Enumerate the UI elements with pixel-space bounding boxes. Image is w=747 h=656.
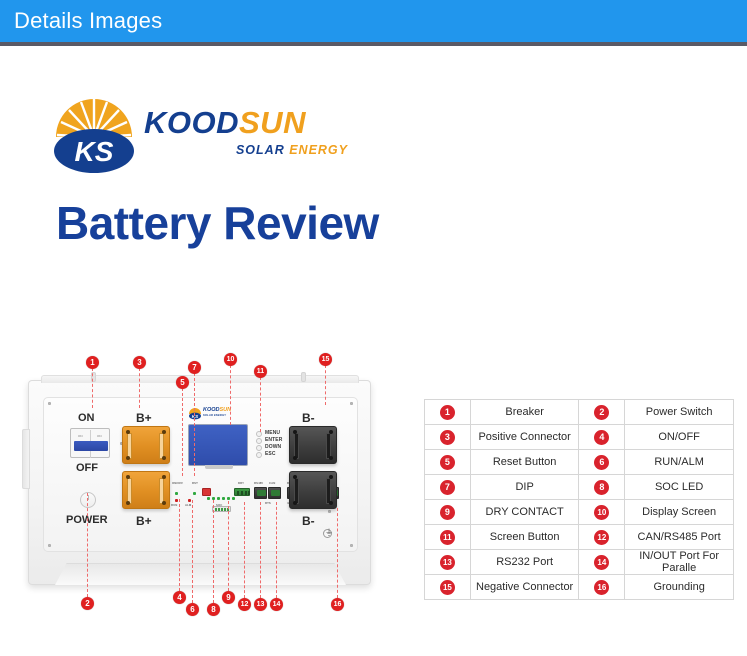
leader-line-9 xyxy=(228,501,229,591)
legend-number-cell: 15 xyxy=(425,575,471,600)
connector-bolt xyxy=(126,456,130,460)
svg-text:KS: KS xyxy=(192,414,199,419)
label-run-micro: RUN xyxy=(171,503,177,507)
leader-line-12 xyxy=(244,502,245,598)
soc-led-indicator xyxy=(227,497,230,500)
legend-label-cell: Display Screen xyxy=(625,500,734,525)
callout-marker-7: 7 xyxy=(188,361,201,374)
legend-number-cell: 12 xyxy=(579,525,625,550)
callout-marker-4: 4 xyxy=(173,591,186,604)
legend-label-cell: DIP xyxy=(470,475,579,500)
menu-button-dot-icon xyxy=(256,452,262,458)
label-rs485-micro: RS485 xyxy=(254,481,263,485)
legend-label-cell: Breaker xyxy=(470,400,579,425)
soc-led-indicator xyxy=(207,497,210,500)
brand-name-kood: KOOD xyxy=(144,105,239,140)
faceplate-screw xyxy=(350,544,353,547)
can-port[interactable] xyxy=(268,487,281,499)
grounding-icon xyxy=(323,529,332,538)
label-dry-micro: DRY xyxy=(238,481,244,485)
display-screen-foot xyxy=(205,465,233,469)
connector-bolt xyxy=(293,501,297,505)
legend-number-cell: 14 xyxy=(579,550,625,575)
legend-label-cell: SOC LED xyxy=(625,475,734,500)
connector-bolt xyxy=(293,475,297,479)
legend-badge: 15 xyxy=(440,580,455,595)
device-base-stand xyxy=(55,563,346,585)
page-header-title: Details Images xyxy=(14,8,162,34)
leader-line-6 xyxy=(192,500,193,603)
negative-connector-bottom[interactable] xyxy=(289,471,337,509)
connector-bolt xyxy=(126,475,130,479)
leader-line-4 xyxy=(179,499,180,591)
legend-label-cell: Grounding xyxy=(625,575,734,600)
connector-bolt xyxy=(162,475,166,479)
component-legend-table: 1 Breaker 2 Power Switch 3 Positive Conn… xyxy=(424,399,734,600)
legend-number-cell: 1 xyxy=(425,400,471,425)
label-on: ON xyxy=(78,412,95,424)
panel-brand-sub: SOLAR ENERGY xyxy=(203,413,231,419)
label-off: OFF xyxy=(76,462,98,474)
connector-bolt xyxy=(162,430,166,434)
legend-label-cell: RUN/ALM xyxy=(625,450,734,475)
positive-connector-top[interactable] xyxy=(122,426,170,464)
legend-label-cell: Negative Connector xyxy=(470,575,579,600)
legend-number-cell: 7 xyxy=(425,475,471,500)
table-row: 9 DRY CONTACT 10 Display Screen xyxy=(425,500,734,525)
menu-button-label: DOWN xyxy=(265,444,281,450)
reset-button[interactable] xyxy=(202,488,211,496)
callout-marker-9: 9 xyxy=(222,591,235,604)
callout-marker-8: 8 xyxy=(207,603,220,616)
legend-badge: 8 xyxy=(594,480,609,495)
legend-badge: 2 xyxy=(594,405,609,420)
label-can-micro: CAN xyxy=(269,481,275,485)
table-row: 1 Breaker 2 Power Switch xyxy=(425,400,734,425)
connector-bolt xyxy=(329,456,333,460)
page-title: Battery Review xyxy=(56,196,379,250)
soc-led-indicator xyxy=(222,497,225,500)
callout-marker-2: 2 xyxy=(81,597,94,610)
connector-bolt xyxy=(162,456,166,460)
legend-number-cell: 3 xyxy=(425,425,471,450)
callout-marker-5: 5 xyxy=(176,376,189,389)
legend-label-cell: RS232 Port xyxy=(470,550,579,575)
leader-line-13 xyxy=(260,502,261,598)
menu-button-label: ENTER xyxy=(265,437,282,443)
legend-badge: 5 xyxy=(440,455,455,470)
connector-bolt xyxy=(329,430,333,434)
legend-number-cell: 8 xyxy=(579,475,625,500)
leader-line-11 xyxy=(260,377,261,432)
legend-number-cell: 4 xyxy=(579,425,625,450)
table-row: 7 DIP 8 SOC LED xyxy=(425,475,734,500)
soc-led-indicator xyxy=(232,497,235,500)
sun-logo-icon: KS xyxy=(48,85,140,177)
legend-label-cell: ON/OFF xyxy=(625,425,734,450)
faceplate-screw xyxy=(48,544,51,547)
label-rst-micro: RST xyxy=(192,481,198,485)
callout-marker-12: 12 xyxy=(238,598,251,611)
legend-badge: 3 xyxy=(440,430,455,445)
leader-line-15 xyxy=(325,365,326,405)
soc-led-indicator xyxy=(217,497,220,500)
page-root: Details Images KS KOODSUN xyxy=(0,0,747,656)
leader-line-5 xyxy=(182,388,183,476)
legend-badge: 1 xyxy=(440,405,455,420)
onoff-led-indicator xyxy=(175,492,178,495)
legend-number-cell: 6 xyxy=(579,450,625,475)
connector-bolt xyxy=(329,475,333,479)
legend-badge: 6 xyxy=(594,455,609,470)
legend-label-cell: Power Switch xyxy=(625,400,734,425)
legend-label-cell: IN/OUT Port For Paralle xyxy=(625,550,734,575)
power-switch-button[interactable] xyxy=(80,492,96,508)
device-chassis: ON ON ON OFF POWER B+ xyxy=(28,380,371,585)
leader-line-8 xyxy=(213,500,214,603)
callout-marker-10: 10 xyxy=(224,353,237,366)
legend-label-cell: DRY CONTACT xyxy=(470,500,579,525)
legend-badge: 16 xyxy=(594,580,609,595)
brand-name-sun: SUN xyxy=(239,105,306,140)
leader-line-14 xyxy=(276,502,277,598)
run-led-indicator xyxy=(175,499,178,502)
legend-badge: 11 xyxy=(440,530,455,545)
connector-bolt xyxy=(293,456,297,460)
brand-tagline-energy: ENERGY xyxy=(289,143,348,157)
status-led-indicator xyxy=(193,492,196,495)
label-onoff-micro: ON/OFF xyxy=(172,481,183,485)
menu-button-label: MENU xyxy=(265,430,280,436)
leader-line-1 xyxy=(92,368,93,408)
panel-sun-logo-icon: KS xyxy=(188,406,202,420)
breaker-mini-mark: ON xyxy=(97,434,102,438)
legend-number-cell: 16 xyxy=(579,575,625,600)
menu-button-dot-icon xyxy=(256,445,262,451)
negative-connector-top[interactable] xyxy=(289,426,337,464)
legend-badge: 13 xyxy=(440,555,455,570)
callout-marker-6: 6 xyxy=(186,603,199,616)
faceplate-screw xyxy=(328,510,331,513)
leader-line-10 xyxy=(230,365,231,425)
legend-label-cell: Reset Button xyxy=(470,450,579,475)
brand-logo: KS KOODSUN SOLAR ENERGY xyxy=(48,85,348,177)
callout-marker-13: 13 xyxy=(254,598,267,611)
callout-marker-15: 15 xyxy=(319,353,332,366)
chassis-mount-ear-right xyxy=(301,372,306,382)
alm-led-indicator xyxy=(188,499,191,502)
menu-button-dot-icon xyxy=(256,431,262,437)
leader-line-7 xyxy=(194,373,195,476)
table-row: 3 Positive Connector 4 ON/OFF xyxy=(425,425,734,450)
breaker-toggle[interactable] xyxy=(74,441,108,451)
label-bplus-top: B+ xyxy=(136,411,152,425)
legend-badge: 12 xyxy=(594,530,609,545)
legend-label-cell: Positive Connector xyxy=(470,425,579,450)
connector-bolt xyxy=(126,501,130,505)
legend-number-cell: 10 xyxy=(579,500,625,525)
chassis-side-flange xyxy=(22,429,30,489)
connector-bolt xyxy=(293,430,297,434)
legend-number-cell: 11 xyxy=(425,525,471,550)
legend-number-cell: 9 xyxy=(425,500,471,525)
battery-device-illustration: 1 3 5 7 10 11 15 ON xyxy=(20,348,410,623)
label-bminus-top: B- xyxy=(302,411,315,425)
faceplate-screw xyxy=(48,402,51,405)
leader-line-3 xyxy=(139,368,140,408)
callout-marker-14: 14 xyxy=(270,598,283,611)
rs485-port[interactable] xyxy=(254,487,267,499)
leader-line-2 xyxy=(87,493,88,597)
label-bplus-bottom: B+ xyxy=(136,514,152,528)
brand-wordmark: KOODSUN SOLAR ENERGY xyxy=(144,107,354,157)
label-rts-micro: RTS xyxy=(265,501,271,505)
menu-button-dot-icon xyxy=(256,438,262,444)
breaker-switch[interactable]: ON ON xyxy=(70,428,110,458)
callout-marker-11: 11 xyxy=(254,365,267,378)
label-alm-micro: ALM xyxy=(185,503,191,507)
faceplate-screw xyxy=(350,402,353,405)
legend-badge: 7 xyxy=(440,480,455,495)
table-row: 15 Negative Connector 16 Grounding xyxy=(425,575,734,600)
leader-line-16 xyxy=(337,508,338,598)
connector-bolt xyxy=(162,501,166,505)
legend-label-cell: CAN/RS485 Port xyxy=(625,525,734,550)
callout-marker-1: 1 xyxy=(86,356,99,369)
svg-text:KS: KS xyxy=(75,136,114,167)
table-row: 11 Screen Button 12 CAN/RS485 Port xyxy=(425,525,734,550)
legend-badge: 9 xyxy=(440,505,455,520)
legend-badge: 14 xyxy=(594,555,609,570)
legend-number-cell: 2 xyxy=(579,400,625,425)
label-bminus-bottom: B- xyxy=(302,514,315,528)
menu-button-label: ESC xyxy=(265,451,276,457)
chassis-top-lip xyxy=(41,375,359,383)
device-faceplate: ON ON ON OFF POWER B+ xyxy=(43,397,358,552)
dry-contact-terminal[interactable] xyxy=(234,488,250,496)
display-screen xyxy=(188,424,248,466)
legend-number-cell: 13 xyxy=(425,550,471,575)
table-row: 5 Reset Button 6 RUN/ALM xyxy=(425,450,734,475)
panel-brand-wordmark: KOODSUN SOLAR ENERGY xyxy=(203,407,231,419)
connector-bolt xyxy=(126,430,130,434)
legend-number-cell: 5 xyxy=(425,450,471,475)
connector-bolt xyxy=(329,501,333,505)
callout-marker-3: 3 xyxy=(133,356,146,369)
callout-marker-16: 16 xyxy=(331,598,344,611)
legend-label-cell: Screen Button xyxy=(470,525,579,550)
breaker-mini-mark: ON xyxy=(78,434,83,438)
legend-badge: 10 xyxy=(594,505,609,520)
legend-badge: 4 xyxy=(594,430,609,445)
positive-connector-bottom[interactable] xyxy=(122,471,170,509)
table-row: 13 RS232 Port 14 IN/OUT Port For Paralle xyxy=(425,550,734,575)
brand-tagline-solar: SOLAR xyxy=(236,143,285,157)
